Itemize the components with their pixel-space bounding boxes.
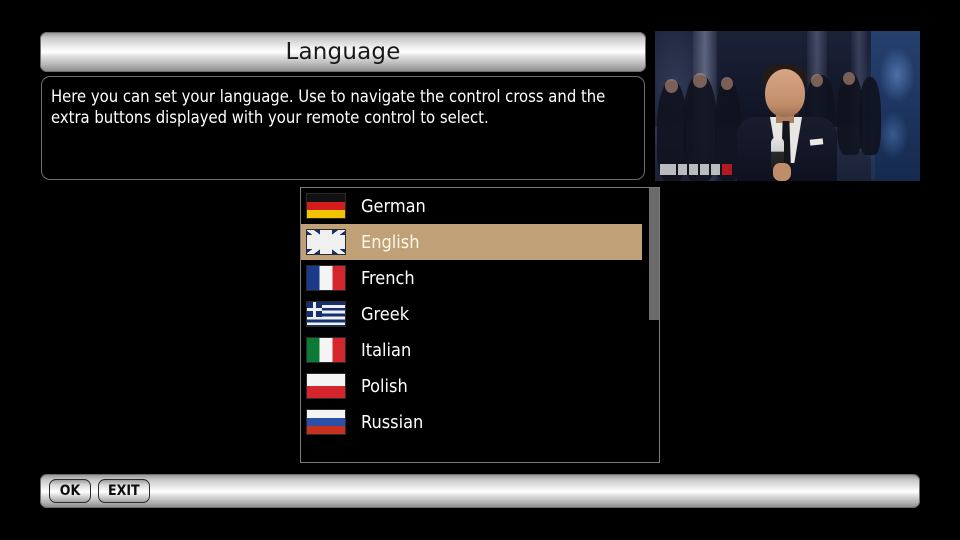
language-list-item-label: French — [361, 268, 415, 289]
language-list-item[interactable]: Russian — [301, 404, 642, 440]
language-list-item[interactable]: English — [301, 224, 642, 260]
help-description-text: Here you can set your language. Use to n… — [51, 86, 632, 128]
video-crowd-head — [811, 74, 823, 87]
page-title: Language — [285, 39, 400, 65]
video-reporter-face — [765, 69, 805, 117]
language-list-item-label: Russian — [361, 412, 423, 433]
video-crowd-head — [693, 73, 707, 88]
tv-settings-screen: Language Here you can set your language.… — [0, 0, 960, 540]
flag-ru-icon — [306, 409, 346, 435]
language-list-item-label: English — [361, 232, 419, 253]
language-list-item[interactable]: Greek — [301, 296, 642, 332]
language-list-item[interactable]: Italian — [301, 332, 642, 368]
language-list-panel[interactable]: GermanEnglishFrenchGreekItalianPolishRus… — [300, 187, 660, 463]
language-list-item-label: Italian — [361, 340, 411, 361]
channel-logo-bug — [660, 162, 752, 176]
softkey-bar: OK EXIT — [40, 474, 920, 508]
language-list-item-label: German — [361, 196, 426, 217]
video-reporter-hand — [773, 163, 791, 181]
flag-fr-icon — [306, 265, 346, 291]
exit-button[interactable]: EXIT — [98, 479, 150, 503]
live-tv-preview[interactable] — [655, 31, 920, 181]
flag-it-icon — [306, 337, 346, 363]
flag-pl-icon — [306, 373, 346, 399]
flag-de-icon — [306, 193, 346, 219]
language-list-scrollbar[interactable] — [649, 188, 659, 462]
page-title-bar: Language — [40, 32, 646, 72]
ok-button[interactable]: OK — [49, 479, 91, 503]
language-list-item[interactable]: German — [301, 188, 642, 224]
video-crowd-head — [665, 79, 678, 93]
video-crowd-head — [843, 72, 855, 85]
language-list-item[interactable]: Polish — [301, 368, 642, 404]
flag-gr-icon — [306, 301, 346, 327]
video-crowd-figure — [859, 77, 881, 155]
language-list-item-label: Greek — [361, 304, 409, 325]
help-description-box: Here you can set your language. Use to n… — [41, 76, 645, 180]
language-list[interactable]: GermanEnglishFrenchGreekItalianPolishRus… — [301, 188, 642, 440]
video-crowd-head — [721, 77, 733, 90]
scrollbar-thumb[interactable] — [649, 188, 659, 320]
language-list-item-label: Polish — [361, 376, 408, 397]
flag-gb-icon — [306, 229, 346, 255]
language-list-item[interactable]: French — [301, 260, 642, 296]
